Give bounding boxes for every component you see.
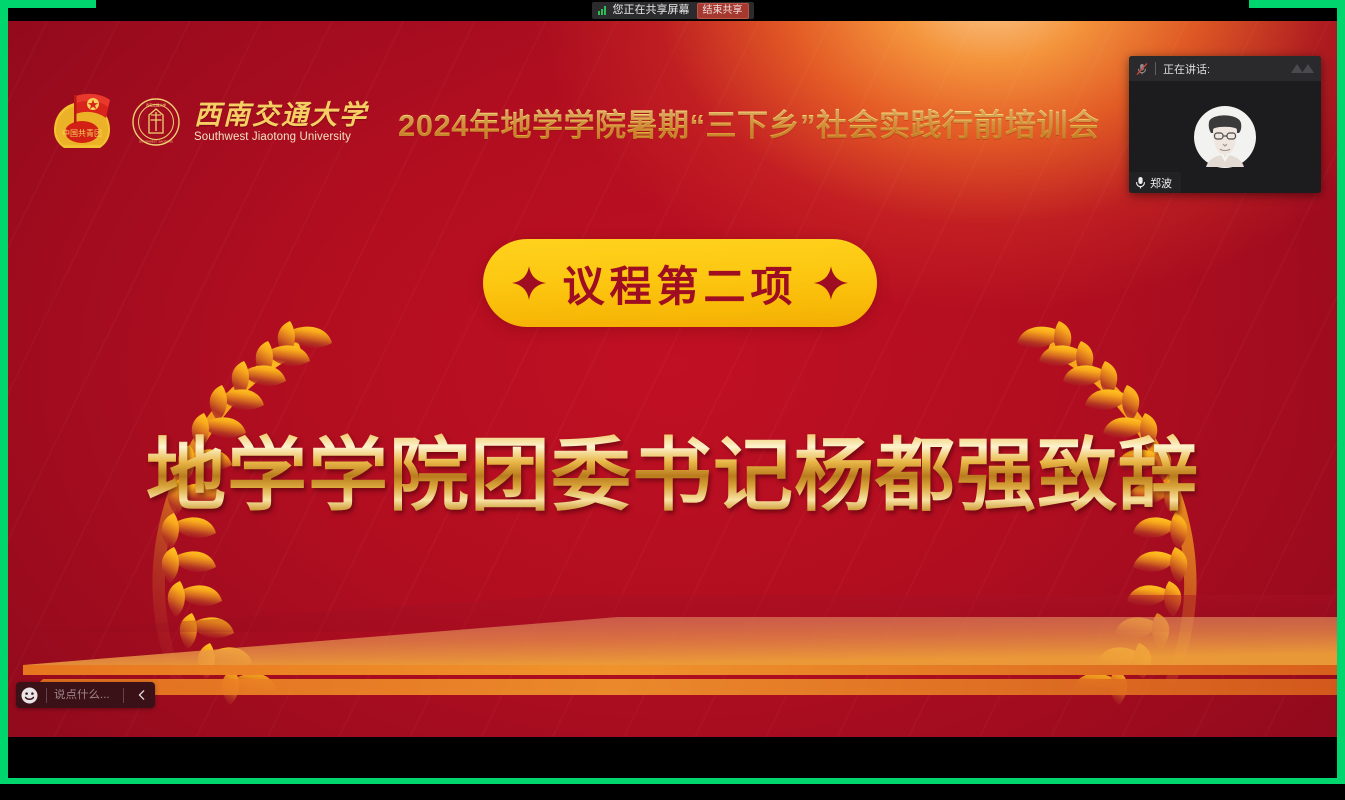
- four-point-star-left-icon: [512, 266, 546, 300]
- svg-text:西南交通大学: 西南交通大学: [146, 103, 167, 108]
- southwest-jiaotong-university-seal-icon: 西南交通大学 SOUTHWEST JIAOTONG: [132, 98, 180, 146]
- svg-text:中国共青团: 中国共青团: [62, 128, 102, 138]
- agenda-badge: 议程第二项: [483, 239, 877, 327]
- speaking-status-label: 正在讲话:: [1163, 61, 1210, 77]
- chat-input[interactable]: [54, 689, 116, 701]
- university-wordmark: 西南交通大学 Southwest Jiaotong University: [194, 101, 368, 142]
- share-border-right: [1337, 0, 1345, 784]
- screen-share-root: 中国共青团 西南交通大学 SOUTHWEST JIAOTONG 西南交通大: [0, 0, 1345, 800]
- user-avatar-portrait: [1193, 105, 1257, 169]
- agenda-badge-label: 议程第二项: [562, 253, 797, 314]
- share-status-text: 您正在共享屏幕: [613, 2, 690, 19]
- microphone-icon: [1135, 176, 1146, 189]
- stage-platform-graphic: [8, 587, 1337, 737]
- video-panel-body: 郑波: [1129, 81, 1321, 193]
- university-name-en: Southwest Jiaotong University: [194, 131, 368, 143]
- microphone-muted-icon[interactable]: [1135, 62, 1149, 76]
- share-border-left: [0, 0, 8, 784]
- chevron-left-icon[interactable]: [131, 683, 153, 707]
- participant-name: 郑波: [1150, 175, 1172, 191]
- participant-video-panel[interactable]: 正在讲话:: [1129, 56, 1321, 193]
- chat-composer-bar[interactable]: [16, 682, 155, 708]
- communist-youth-league-emblem-icon: 中国共青团: [48, 90, 116, 154]
- event-title: 2024年地学学院暑期“三下乡”社会实践行前培训会: [398, 100, 1099, 145]
- panel-header-divider: [1155, 62, 1156, 75]
- screen-share-toolbar: 您正在共享屏幕 结束共享: [8, 0, 1337, 21]
- emoji-face-icon[interactable]: [20, 686, 39, 705]
- chat-divider-2: [123, 688, 124, 703]
- end-share-button[interactable]: 结束共享: [697, 3, 749, 19]
- chat-divider: [46, 688, 47, 703]
- share-border-bottom: [0, 778, 1345, 784]
- university-name-cn: 西南交通大学: [194, 101, 368, 129]
- slide-header: 中国共青团 西南交通大学 SOUTHWEST JIAOTONG 西南交通大: [48, 90, 1099, 154]
- share-status-pill: 您正在共享屏幕 结束共享: [592, 2, 754, 19]
- double-chevron-icon[interactable]: [1289, 61, 1317, 75]
- four-point-star-right-icon: [814, 266, 848, 300]
- slide-headline: 地学学院团委书记杨都强致辞: [8, 433, 1337, 519]
- participant-name-badge: 郑波: [1129, 172, 1181, 193]
- video-panel-header: 正在讲话:: [1129, 56, 1321, 81]
- svg-text:SOUTHWEST JIAOTONG: SOUTHWEST JIAOTONG: [139, 140, 174, 144]
- signal-bars-icon: [598, 6, 606, 15]
